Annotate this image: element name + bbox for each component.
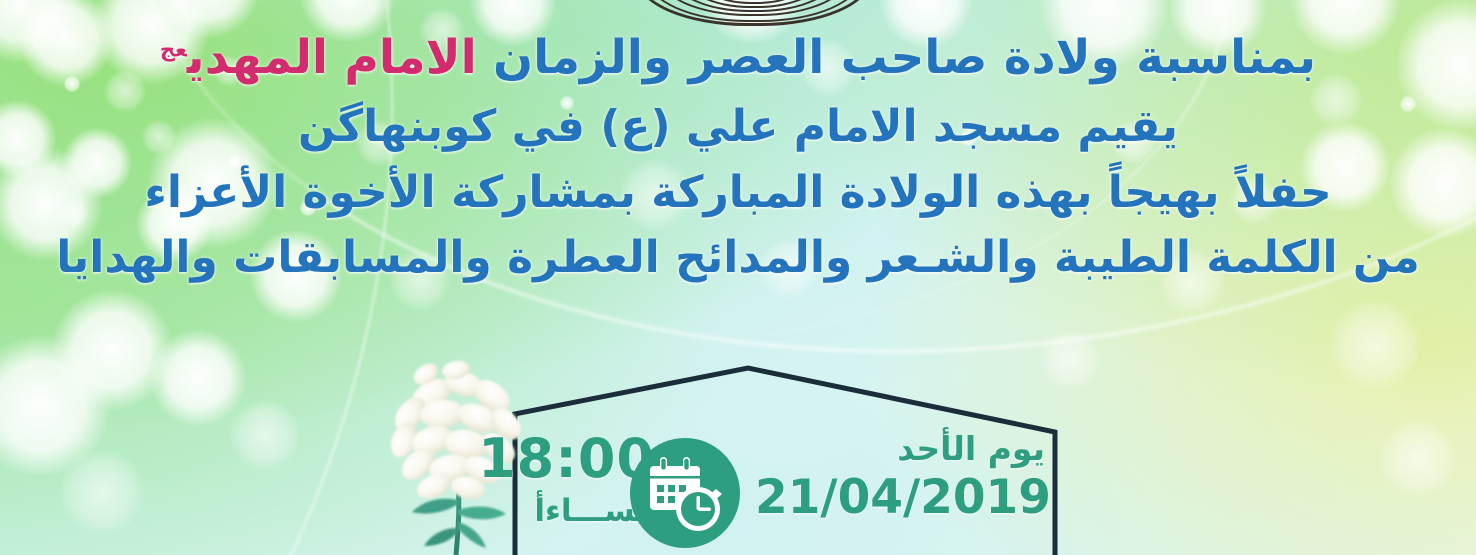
- event-datetime-block: 18:00 مســـاءأ: [500, 432, 1045, 555]
- mosque-dome-emblem-icon: [636, 0, 872, 26]
- event-poster: بمناسبة ولادة صاحب العصر والزمان الامام …: [0, 0, 1476, 555]
- bokeh-circle: [150, 330, 246, 426]
- headline-line-2: يقيم مسجد الامام علي (ع) في كوبنهاگن: [0, 105, 1476, 149]
- bokeh-circle: [0, 336, 110, 476]
- honorific-superscript: عج: [160, 37, 187, 61]
- calendar-clock-icon: [630, 438, 740, 548]
- headline-line-3: حفلاً بهيجاً بهذه الولادة المباركة بمشار…: [0, 171, 1476, 215]
- date-column: يوم الأحد 21/04/2019: [755, 432, 1045, 521]
- headline-line-1-prefix: بمناسبة ولادة صاحب العصر والزمان: [477, 30, 1316, 85]
- headline-line-4: من الكلمة الطيبة والشـعر والمدائح العطرة…: [0, 236, 1476, 280]
- headline-line-1: بمناسبة ولادة صاحب العصر والزمان الامام …: [0, 34, 1476, 81]
- event-day-name: يوم الأحد: [755, 432, 1045, 465]
- bokeh-circle: [52, 290, 172, 410]
- bokeh-circle: [1380, 420, 1456, 496]
- headline-text-block: بمناسبة ولادة صاحب العصر والزمان الامام …: [0, 34, 1476, 280]
- event-date: 21/04/2019: [755, 474, 1045, 521]
- bokeh-circle: [60, 450, 144, 534]
- imam-mahdi-highlight: الامام المهدي: [187, 30, 477, 85]
- bokeh-circle: [230, 400, 300, 470]
- bokeh-circle: [1330, 300, 1420, 390]
